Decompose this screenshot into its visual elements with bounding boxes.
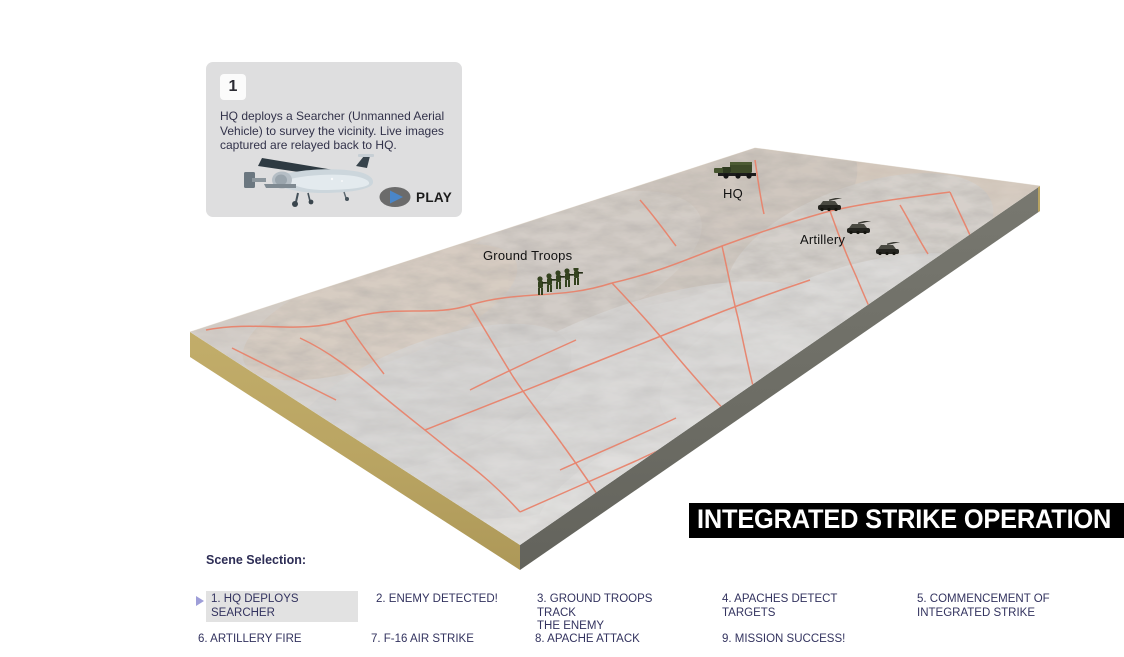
selected-scene-marker-icon [196,596,204,606]
scene-item-2[interactable]: 2. ENEMY DETECTED! [371,591,523,609]
scene-selection-heading: Scene Selection: [206,553,1116,567]
scene-item-8[interactable]: 8. APACHE ATTACK [530,631,682,649]
page-title: INTEGRATED STRIKE OPERATION [697,506,1111,533]
block-side-right [1038,186,1040,212]
map-label-artillery: Artillery [800,232,845,247]
ground-troops-marker [536,268,584,303]
step-description-text: HQ deploys a Searcher (Unmanned Aerial V… [220,109,452,153]
application-stage: HQ Artillery [0,0,1124,657]
scene-info-panel: 1 HQ deploys a Searcher (Unmanned Aerial… [206,62,462,217]
scene-item-3[interactable]: 3. GROUND TROOPS TRACK THE ENEMY [532,591,692,636]
scene-item-6[interactable]: 6. ARTILLERY FIRE [193,631,345,649]
map-label-hq: HQ [723,186,743,201]
play-button[interactable]: PLAY [379,186,452,208]
scene-item-1[interactable]: 1. HQ DEPLOYS SEARCHER [206,591,358,622]
scene-item-4[interactable]: 4. APACHES DETECT TARGETS [717,591,887,622]
uav-drone-illustration [234,150,384,212]
scene-item-9[interactable]: 9. MISSION SUCCESS! [717,631,869,649]
scene-selection-panel: Scene Selection: 1. HQ DEPLOYS SEARCHER … [196,553,1116,655]
block-side-left [190,332,520,570]
title-banner: INTEGRATED STRIKE OPERATION [689,503,1124,538]
scene-selection-grid: 1. HQ DEPLOYS SEARCHER 2. ENEMY DETECTED… [196,575,1116,655]
play-button-label: PLAY [416,190,452,205]
map-label-ground-troops: Ground Troops [483,248,572,263]
step-number-badge: 1 [220,74,246,100]
scene-item-7[interactable]: 7. F-16 AIR STRIKE [366,631,518,649]
scene-item-5[interactable]: 5. COMMENCEMENT OF INTEGRATED STRIKE [912,591,1062,622]
play-triangle-icon[interactable] [379,186,411,208]
